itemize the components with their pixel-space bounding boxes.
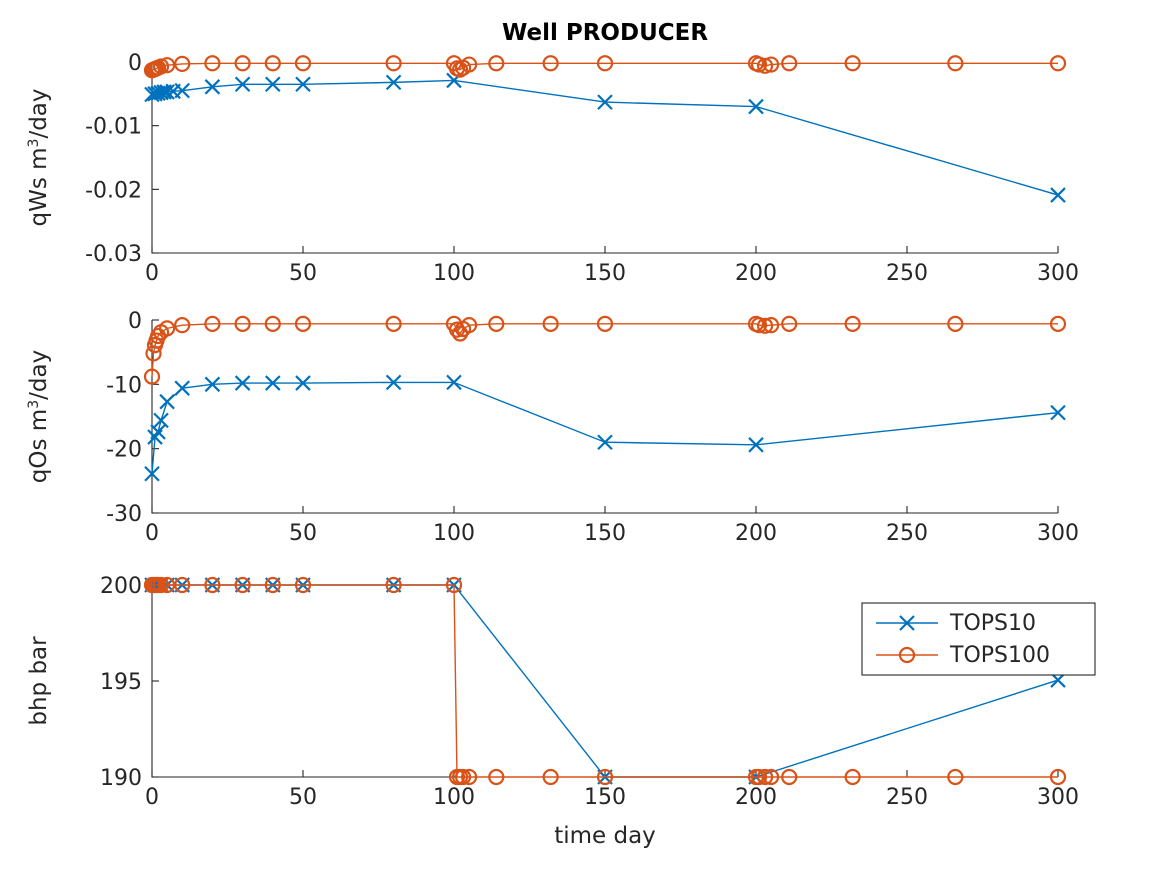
y-ticklabel-qos: 0 — [128, 309, 142, 334]
axis-spines-qos — [152, 320, 1058, 513]
x-ticklabel-bhp: 200 — [735, 785, 777, 810]
y-ticklabel-qws: -0.01 — [85, 115, 142, 140]
x-ticklabel-qos: 200 — [735, 521, 777, 546]
y-ticklabel-qos: -20 — [106, 438, 142, 463]
y-ticklabel-qws: 0 — [128, 51, 142, 76]
x-ticklabel-qws: 50 — [289, 261, 317, 286]
x-ticklabel-qws: 250 — [886, 261, 928, 286]
x-ticklabel-bhp: 250 — [886, 785, 928, 810]
x-ticklabel-qos: 150 — [584, 521, 626, 546]
x-ticklabel-qws: 100 — [433, 261, 475, 286]
axis-spines-qws — [152, 62, 1058, 253]
x-ticklabel-qws: 0 — [145, 261, 159, 286]
x-ticklabel-bhp: 100 — [433, 785, 475, 810]
y-ticklabel-qos: -30 — [106, 502, 142, 527]
marker-qws-TOPS10 — [1051, 188, 1065, 202]
x-ticklabel-qws: 150 — [584, 261, 626, 286]
series-line-qos-TOPS10 — [152, 382, 1058, 473]
x-ticklabel-qos: 50 — [289, 521, 317, 546]
marker-qos-TOPS10 — [154, 413, 168, 427]
y-ticklabel-bhp: 195 — [100, 670, 142, 695]
y-ticklabel-qws: -0.03 — [85, 242, 142, 267]
x-ticklabel-bhp: 0 — [145, 785, 159, 810]
figure-canvas: 0501001502002503000-0.01-0.02-0.03qWs m3… — [0, 0, 1167, 875]
x-ticklabel-qos: 0 — [145, 521, 159, 546]
x-ticklabel-bhp: 50 — [289, 785, 317, 810]
marker-qos-TOPS10 — [151, 425, 165, 439]
x-ticklabel-qos: 100 — [433, 521, 475, 546]
x-ticklabel-qws: 300 — [1037, 261, 1079, 286]
y-ticklabel-qws: -0.02 — [85, 178, 142, 203]
legend[interactable]: TOPS10TOPS100 — [862, 603, 1095, 675]
legend-label-TOPS100: TOPS100 — [949, 643, 1050, 668]
subplot-qws: 0501001502002503000-0.01-0.02-0.03qWs m3… — [26, 20, 1079, 286]
x-axis-label-bhp: time day — [554, 823, 656, 849]
x-ticklabel-qws: 200 — [735, 261, 777, 286]
x-ticklabel-qos: 250 — [886, 521, 928, 546]
series-line-qws-TOPS10 — [152, 80, 1058, 195]
matlab-figure-window: 0501001502002503000-0.01-0.02-0.03qWs m3… — [0, 0, 1167, 875]
y-axis-label-qos: qOs m3/day — [26, 350, 52, 483]
x-ticklabel-qos: 300 — [1037, 521, 1079, 546]
y-axis-label-qws: qWs m3/day — [26, 88, 52, 226]
subplot-qos: 0501001502002503000-10-20-30qOs m3/day — [26, 309, 1079, 546]
legend-label-TOPS10: TOPS10 — [949, 611, 1036, 636]
x-ticklabel-bhp: 150 — [584, 785, 626, 810]
y-ticklabel-qos: -10 — [106, 373, 142, 398]
y-ticklabel-bhp: 200 — [100, 574, 142, 599]
chart-title: Well PRODUCER — [502, 20, 708, 46]
marker-qos-TOPS10 — [160, 395, 174, 409]
y-ticklabel-bhp: 190 — [100, 766, 142, 791]
y-axis-label-bhp: bhp bar — [26, 636, 52, 726]
x-ticklabel-bhp: 300 — [1037, 785, 1079, 810]
